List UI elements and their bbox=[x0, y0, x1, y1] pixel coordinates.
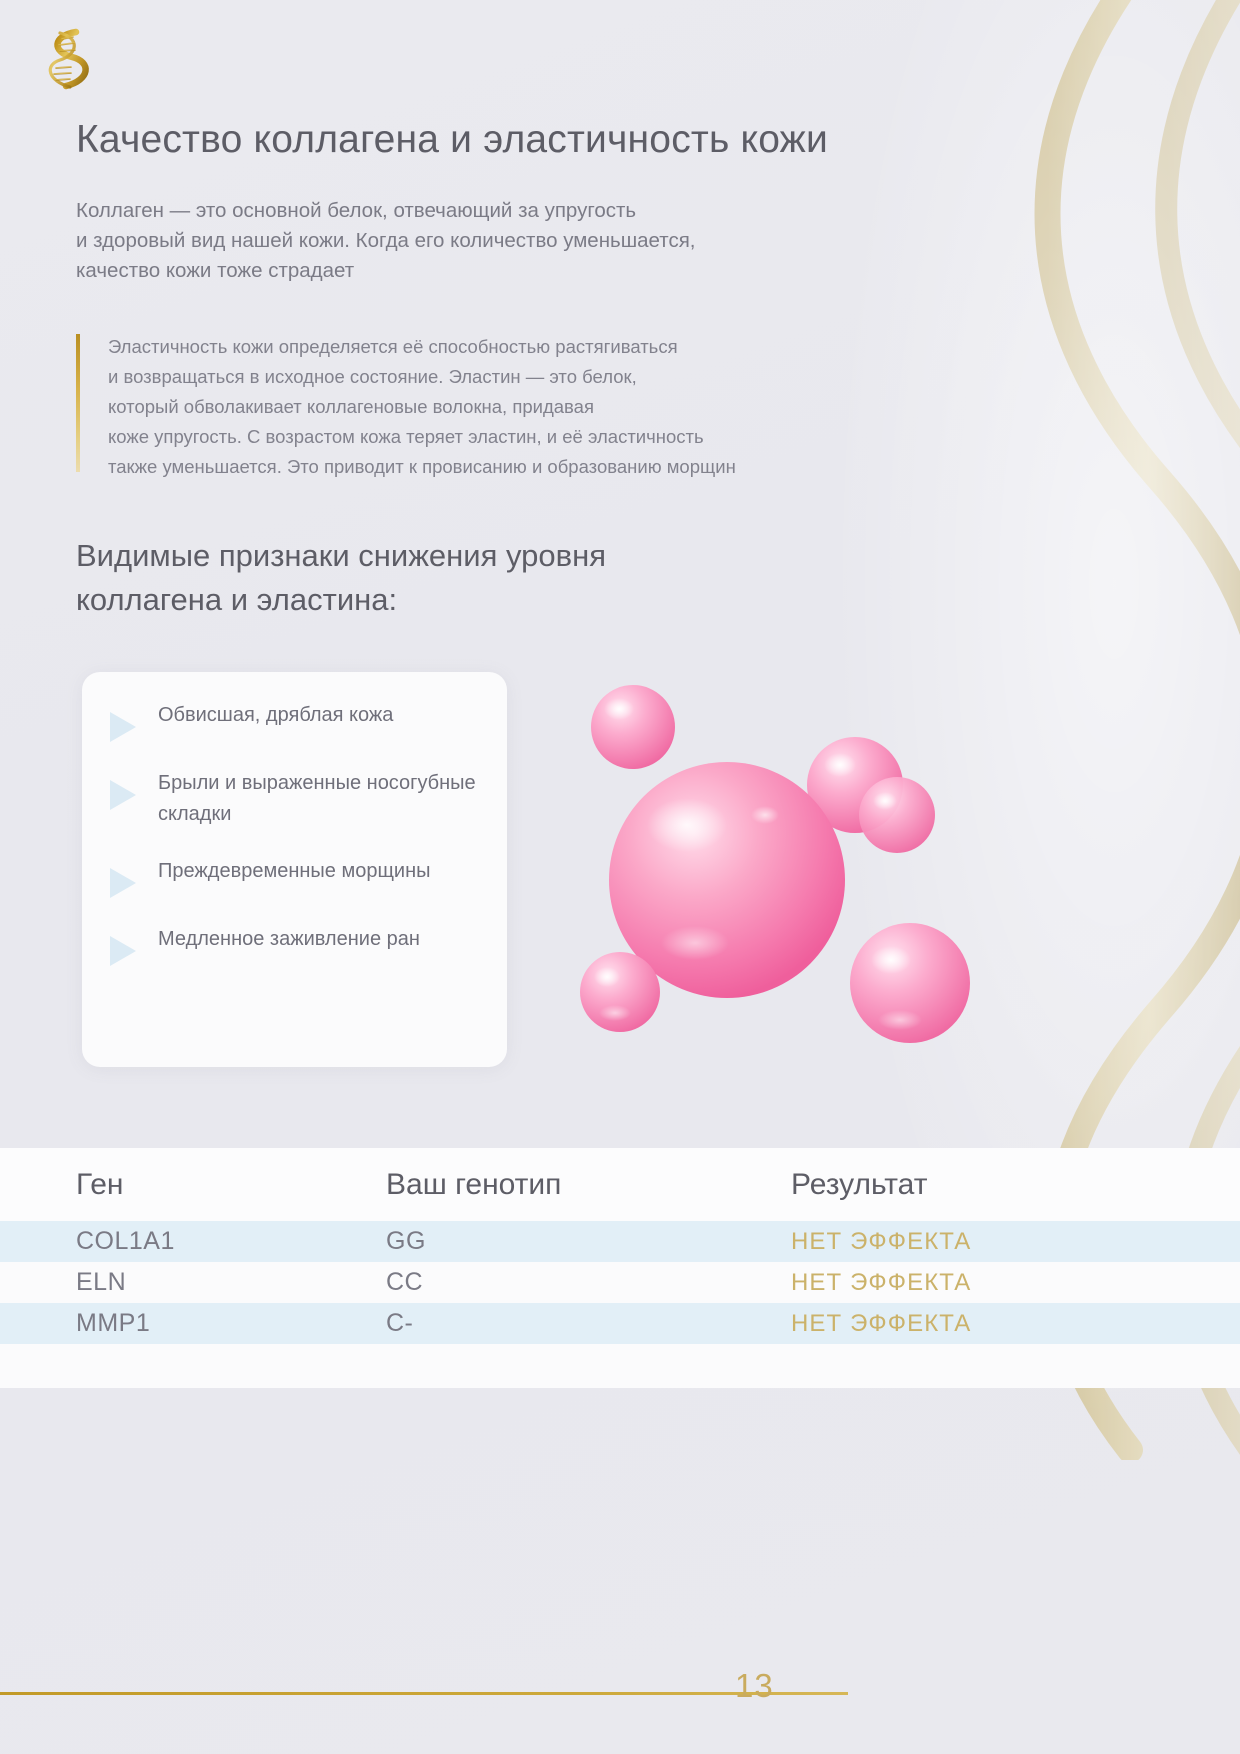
table-row: MMP1 C- НЕТ ЭФФЕКТА bbox=[0, 1303, 1240, 1344]
section-heading: Видимые признаки снижения уровня коллаге… bbox=[76, 534, 876, 622]
quote-line-5: также уменьшается. Это приводит к провис… bbox=[108, 452, 956, 482]
genetics-results-table: Ген Ваш генотип Результат COL1A1 GG НЕТ … bbox=[0, 1148, 1240, 1388]
footer-divider bbox=[0, 1692, 848, 1695]
list-item-label: Медленное заживление ран bbox=[158, 924, 420, 955]
intro-line-2: и здоровый вид нашей кожи. Когда его кол… bbox=[76, 226, 976, 256]
triangle-bullet-icon bbox=[110, 936, 136, 966]
callout-accent-bar bbox=[76, 334, 80, 472]
dna-helix-icon bbox=[38, 24, 98, 96]
quote-line-4: коже упругость. С возрастом кожа теряет … bbox=[108, 422, 956, 452]
quote-line-3: который обволакивает коллагеновые волокн… bbox=[108, 392, 956, 422]
status-badge: НЕТ ЭФФЕКТА bbox=[791, 1269, 1164, 1297]
signs-list: Обвисшая, дряблая кожа Брыли и выраженны… bbox=[110, 700, 493, 966]
intro-line-3: качество кожи тоже страдает bbox=[76, 256, 976, 286]
cell-gene: COL1A1 bbox=[76, 1227, 386, 1256]
cell-genotype: CC bbox=[386, 1268, 791, 1297]
intro-paragraph: Коллаген — это основной белок, отвечающи… bbox=[76, 196, 976, 286]
quote-line-2: и возвращаться в исходное состояние. Эла… bbox=[108, 362, 956, 392]
status-badge: НЕТ ЭФФЕКТА bbox=[791, 1310, 1164, 1338]
section-heading-line-1: Видимые признаки снижения уровня bbox=[76, 534, 876, 578]
table-row: COL1A1 GG НЕТ ЭФФЕКТА bbox=[0, 1221, 1240, 1262]
list-item-label: Обвисшая, дряблая кожа bbox=[158, 700, 393, 731]
cell-genotype: GG bbox=[386, 1227, 791, 1256]
list-item: Обвисшая, дряблая кожа bbox=[110, 700, 493, 742]
callout-text: Эластичность кожи определяется её способ… bbox=[108, 332, 956, 482]
list-item-label: Брыли и выраженные носогубные складки bbox=[158, 768, 478, 830]
section-heading-line-2: коллагена и эластина: bbox=[76, 578, 876, 622]
page-title: Качество коллагена и эластичность кожи bbox=[76, 118, 828, 162]
triangle-bullet-icon bbox=[110, 868, 136, 898]
cell-gene: MMP1 bbox=[76, 1309, 386, 1338]
intro-line-1: Коллаген — это основной белок, отвечающи… bbox=[76, 196, 976, 226]
list-item-label: Преждевременные морщины bbox=[158, 856, 431, 887]
list-item: Брыли и выраженные носогубные складки bbox=[110, 768, 493, 830]
table-footer-spacer bbox=[0, 1344, 1240, 1388]
triangle-bullet-icon bbox=[110, 712, 136, 742]
table-header-row: Ген Ваш генотип Результат bbox=[0, 1148, 1240, 1221]
column-header-genotype: Ваш генотип bbox=[386, 1168, 791, 1202]
column-header-gene: Ген bbox=[76, 1168, 386, 1202]
table-row: ELN CC НЕТ ЭФФЕКТА bbox=[0, 1262, 1240, 1303]
status-badge: НЕТ ЭФФЕКТА bbox=[791, 1228, 1164, 1256]
document-page: Качество коллагена и эластичность кожи К… bbox=[0, 0, 1240, 1754]
triangle-bullet-icon bbox=[110, 780, 136, 810]
cell-gene: ELN bbox=[76, 1268, 386, 1297]
quote-line-1: Эластичность кожи определяется её способ… bbox=[108, 332, 956, 362]
signs-card: Обвисшая, дряблая кожа Брыли и выраженны… bbox=[82, 672, 507, 1067]
list-item: Медленное заживление ран bbox=[110, 924, 493, 966]
callout-quote: Эластичность кожи определяется её способ… bbox=[76, 332, 956, 482]
column-header-result: Результат bbox=[791, 1168, 1164, 1202]
list-item: Преждевременные морщины bbox=[110, 856, 493, 898]
pink-collagen-bubbles-illustration bbox=[555, 655, 1025, 1085]
page-number: 13 bbox=[735, 1667, 774, 1705]
cell-genotype: C- bbox=[386, 1309, 791, 1338]
